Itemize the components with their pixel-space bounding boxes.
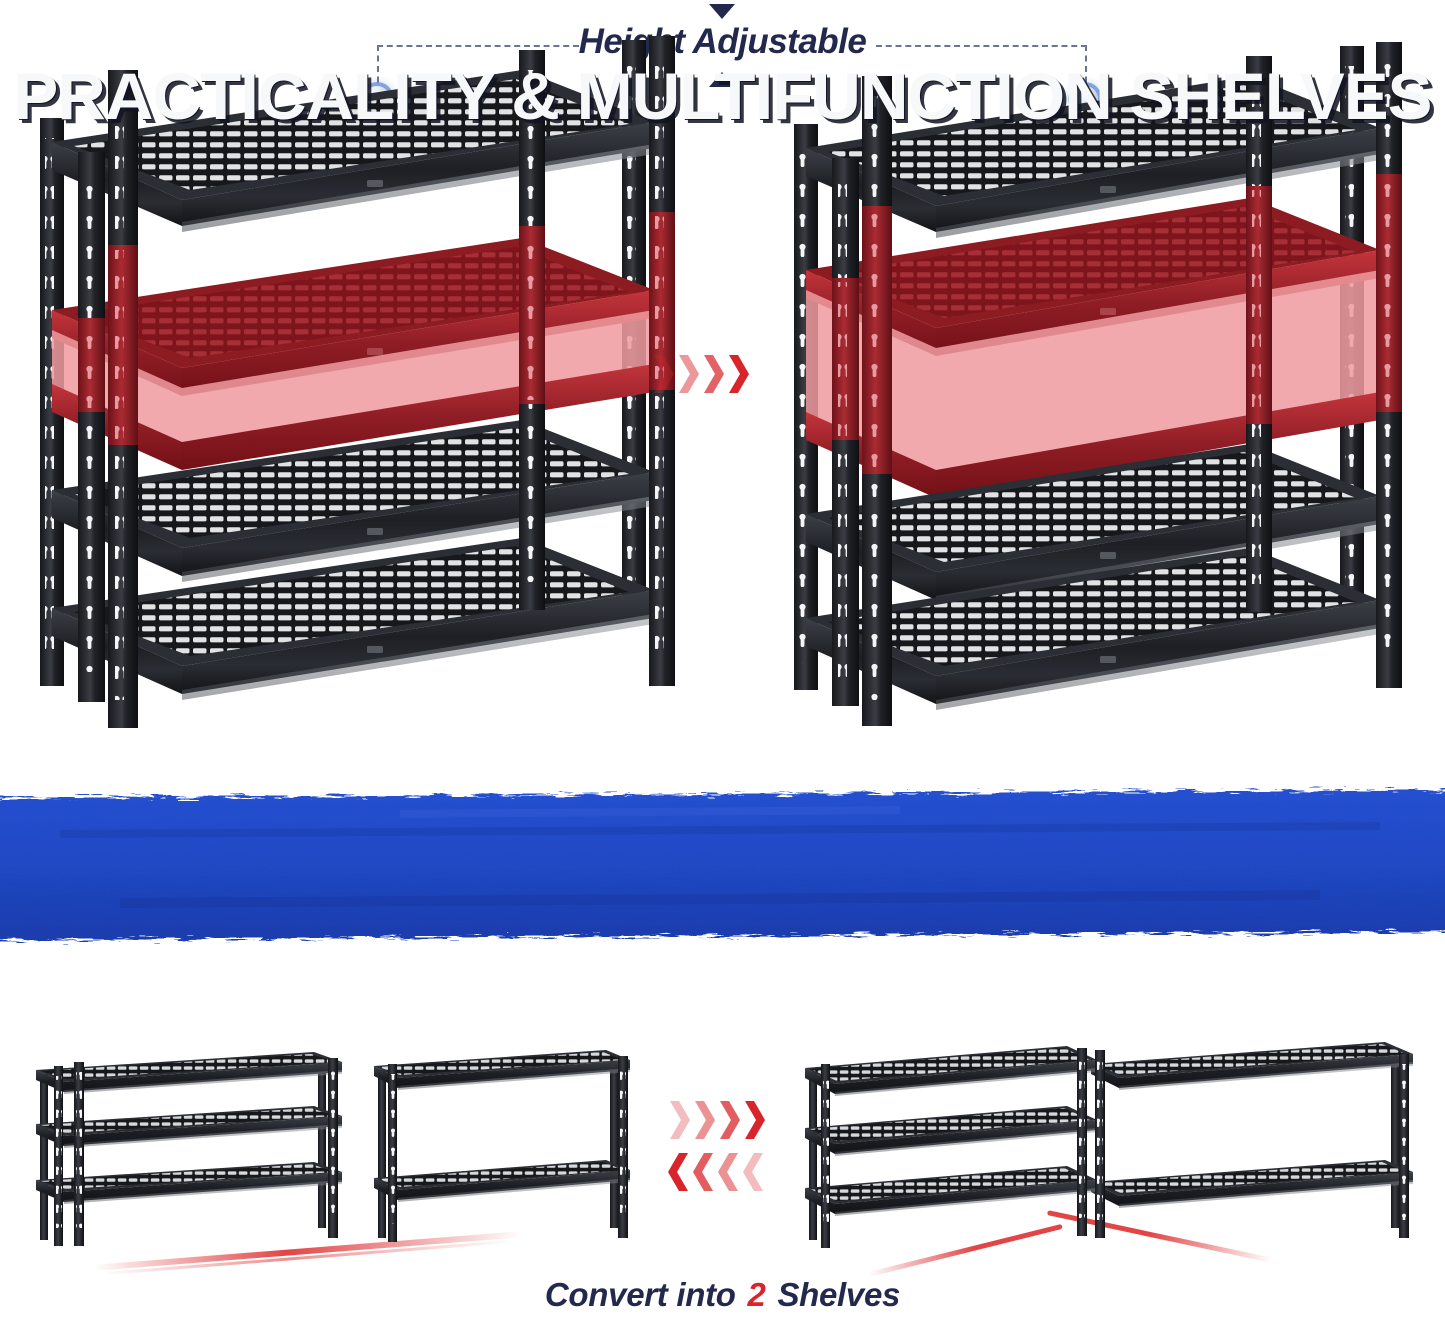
inline-long-configuration xyxy=(18,1030,638,1290)
caption-suffix: Shelves xyxy=(777,1276,900,1313)
upright-post-far-right xyxy=(1376,42,1402,688)
caption-number: 2 xyxy=(745,1276,769,1313)
chevron-right-icon xyxy=(677,352,699,396)
shelving-unit-right-arm xyxy=(1091,1042,1413,1238)
conversion-arrow-right xyxy=(652,352,749,396)
chevron-left-icon xyxy=(668,1150,690,1194)
chevron-right-icon xyxy=(743,1098,765,1142)
chevron-right-icon xyxy=(693,1098,715,1142)
chevron-right-icon xyxy=(652,352,674,396)
shelving-unit-standard-spacing xyxy=(22,30,682,730)
shelving-unit-left xyxy=(36,1052,342,1246)
upright-post-mid-right xyxy=(1246,56,1272,612)
infographic-stage: Height Adjustable xyxy=(0,0,1445,1327)
chevron-right-icon xyxy=(727,352,749,396)
upright-post-front-left xyxy=(78,152,105,702)
shelving-unit-right xyxy=(374,1050,630,1242)
chevron-left-icon xyxy=(718,1150,740,1194)
l-shaped-corner-configuration xyxy=(795,1020,1425,1290)
chevron-right-icon xyxy=(702,352,724,396)
chevron-right-icon xyxy=(718,1098,740,1142)
banner-title: PRACTICALITY & MULTIFUNCTION SHELVES xyxy=(0,58,1445,134)
upright-post-mid-right xyxy=(519,50,545,610)
chevron-left-icon xyxy=(743,1150,765,1194)
chevron-left-icon xyxy=(693,1150,715,1194)
conversion-arrow-forward xyxy=(668,1098,765,1142)
convert-caption: Convert into 2 Shelves xyxy=(0,1276,1445,1314)
floor-guide-line xyxy=(867,1210,1272,1277)
conversion-arrow-reverse xyxy=(668,1150,765,1194)
triangle-down-icon xyxy=(709,4,735,19)
caption-prefix: Convert into xyxy=(545,1276,736,1313)
upright-post-front-right xyxy=(108,70,138,728)
floor-guide-line xyxy=(93,1231,522,1275)
section-banner xyxy=(0,770,1445,955)
chevron-right-icon xyxy=(668,1098,690,1142)
upright-post-front-right xyxy=(862,76,892,726)
shelf-bottom-black xyxy=(52,538,654,700)
upright-post-front-left xyxy=(832,158,859,706)
